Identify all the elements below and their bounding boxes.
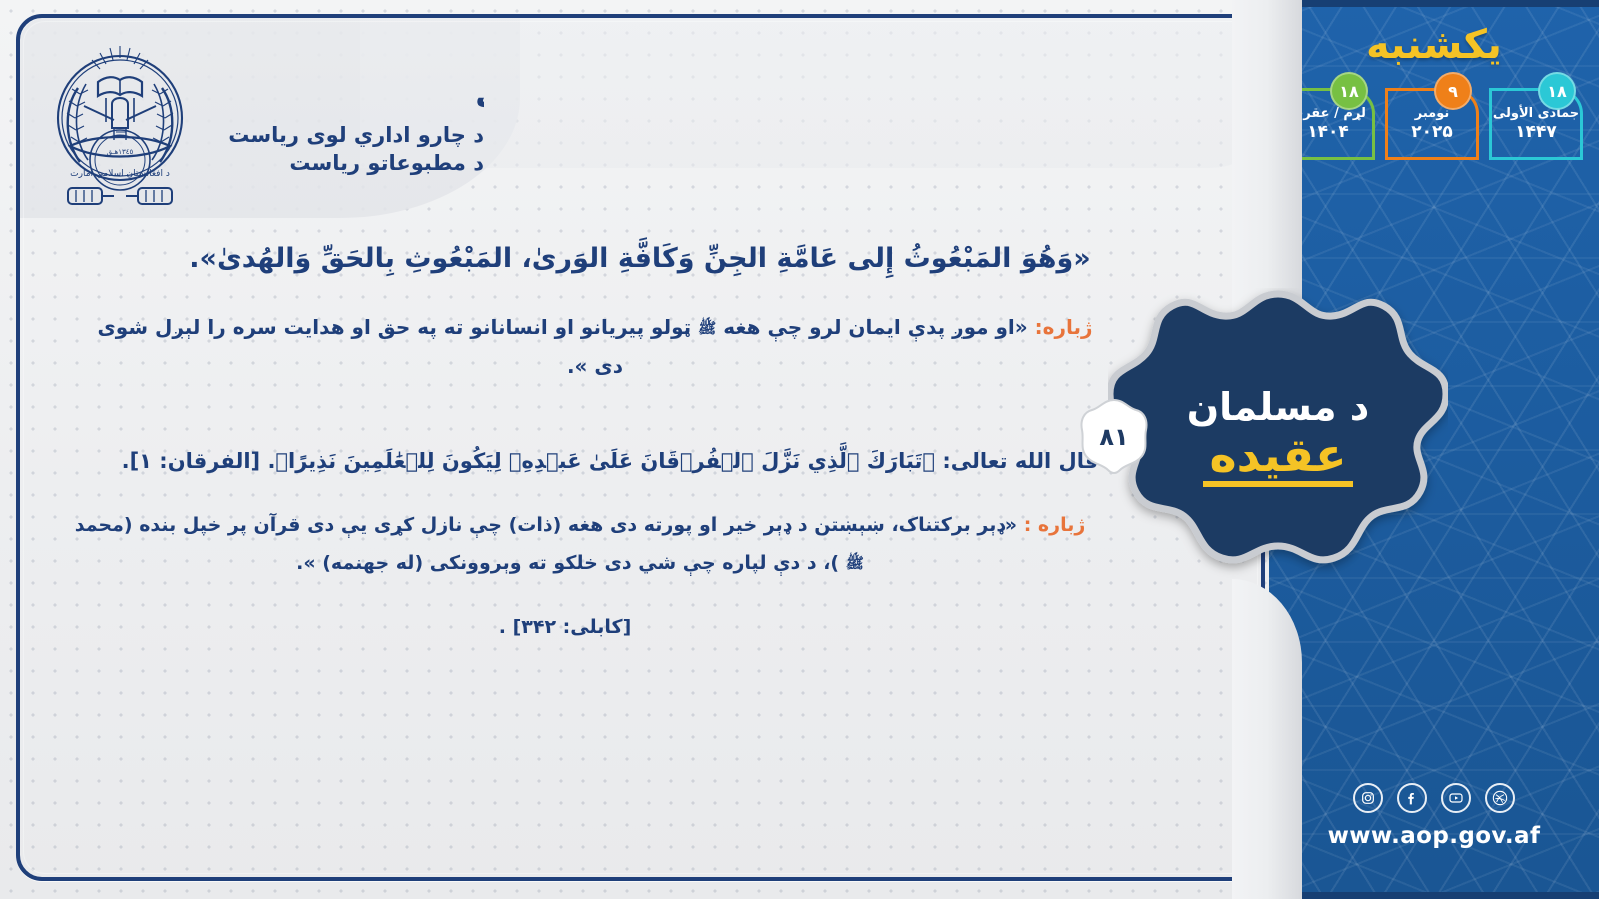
translation-2-part-b: (محمد (75, 514, 133, 536)
instagram-icon[interactable] (1353, 783, 1383, 813)
ayah-reference: [الفرقان: ۱]. (122, 449, 261, 473)
badge-line-2: عقیده (1203, 431, 1352, 487)
series-title-badge: د مسلمان عقیده ۸۱ (1108, 288, 1448, 588)
episode-number: ۸۱ (1078, 398, 1150, 476)
website-url[interactable]: www.aop.gov.af (1269, 823, 1599, 849)
day-name: یکشنبه (1269, 22, 1599, 68)
brand-header: ١٣٤٥هـق د افغانستان اسلامي امارت (40, 26, 560, 221)
date-boxes: ۱۸ جمادى الأولى ۱۴۴۷ ۹ نومبر ۲۰۲۵ ۱۸ لړم… (1277, 88, 1587, 160)
poster-canvas: ١٣٤٥هـق د افغانستان اسلامي امارت (0, 0, 1599, 899)
translation-2-part-a: «ډېر برکتناک، ښېښتن د ډېر خیر او پورته د… (139, 514, 1017, 536)
x-twitter-icon[interactable] (1485, 783, 1515, 813)
translation-1-part-a: «او موږ پدې ایمان لرو چې هغه (723, 315, 1027, 339)
directorate-line-1: د چارو اداري لوی ریاست (228, 123, 484, 147)
svg-text:د افغانستان اسلامي امارت: د افغانستان اسلامي امارت (474, 79, 484, 115)
badge-text-block: د مسلمان عقیده (1108, 288, 1448, 588)
svg-text:١٣٤٥هـق: ١٣٤٥هـق (107, 148, 134, 156)
episode-number-medal: ۸۱ (1078, 398, 1150, 476)
page-curl-bottom (1232, 579, 1302, 899)
date-box-gregorian: ۹ نومبر ۲۰۲۵ (1385, 88, 1479, 160)
rail-bottom-divider (1269, 892, 1599, 899)
pashto-translation-2: ژباره : «ډېر برکتناک، ښېښتن د ډېر خیر او… (40, 480, 1240, 582)
date-box-hijri: ۱۸ جمادى الأولى ۱۴۴۷ (1489, 88, 1583, 160)
translation-label-1: ژباره: (1035, 315, 1093, 339)
translation-label-2: ژباره : (1024, 514, 1086, 536)
date-box-gregorian-day: ۹ (1434, 72, 1472, 110)
date-box-gregorian-year: ۲۰۲۵ (1411, 122, 1453, 142)
date-box-solar-year: ۱۴۰۴ (1307, 122, 1349, 142)
emirate-title-calligraphy: د افغانستان اسلامي امارت (214, 67, 484, 119)
date-box-solar-day: ۱۸ (1330, 72, 1368, 110)
hadith-arabic-text: «وَهُوَ المَبْعُوثُ إِلى عَامَّةِ الجِنِ… (40, 226, 1240, 284)
islamic-emirate-of-afghanistan-emblem: ١٣٤٥هـق د افغانستان اسلامي امارت (40, 36, 200, 211)
ayah-intro: قال الله تعالى: (942, 449, 1098, 473)
brand-text-block: د افغانستان اسلامي امارت د چارو اداري لو… (214, 67, 484, 181)
badge-line-1: د مسلمان (1187, 385, 1370, 429)
salawat-icon: ﷺ (698, 314, 716, 343)
date-box-hijri-day: ۱۸ (1538, 72, 1576, 110)
rail-top-divider (1269, 0, 1599, 7)
facebook-icon[interactable] (1397, 783, 1427, 813)
svg-text:د افغانستان اسلامي امارت: د افغانستان اسلامي امارت (70, 169, 170, 179)
directorate-line-2: د مطبوعاتو ریاست (289, 151, 484, 175)
content-body: «وَهُوَ المَبْعُوثُ إِلى عَامَّةِ الجِنِ… (40, 226, 1240, 866)
pashto-translation-1: ژباره: «او موږ پدې ایمان لرو چې هغه ﷺ ټو… (40, 284, 1240, 386)
social-icons-row (1269, 783, 1599, 813)
translation-2-part-c: )، د دې لپاره چې شي دی خلکو ته وېروونکی … (296, 552, 839, 574)
youtube-icon[interactable] (1441, 783, 1471, 813)
date-box-hijri-year: ۱۴۴۷ (1515, 122, 1557, 142)
salawat-icon-2: ﷺ (846, 548, 864, 578)
source-citation: [کابلی: ۳۴۲] . (40, 582, 1240, 638)
translation-1-part-b: ټولو پیریانو او انسانانو ته په حق او هدا… (284, 315, 692, 339)
date-box-hijri-month: جمادى الأولى (1493, 106, 1579, 121)
quran-ayah-block: قال الله تعالى: ﴿تَبَارَكَ ٱلَّذِي نَزَّ… (40, 386, 1240, 480)
ayah-text: ﴿تَبَارَكَ ٱلَّذِي نَزَّلَ ٱلۡفُرۡقَانَ … (267, 449, 935, 473)
